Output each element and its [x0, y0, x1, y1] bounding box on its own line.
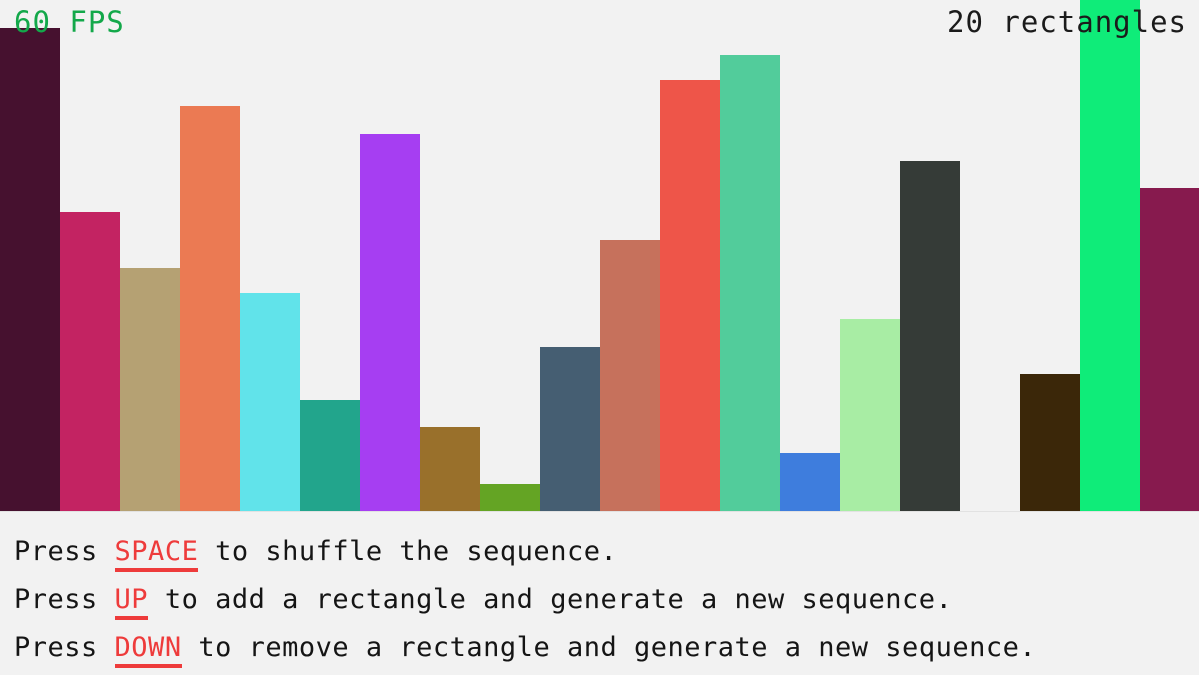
bar-7 — [360, 134, 420, 511]
instruction-suffix: to remove a rectangle and generate a new… — [182, 632, 1037, 663]
bar-1 — [0, 28, 60, 511]
bar-9 — [480, 484, 540, 511]
instruction-line-shuffle: Press SPACE to shuffle the sequence. — [14, 528, 1199, 576]
chart-area[interactable] — [0, 0, 1199, 511]
instruction-line-add: Press UP to add a rectangle and generate… — [14, 576, 1199, 624]
bar-8 — [420, 427, 480, 511]
bar-chart — [0, 0, 1199, 511]
bar-13 — [720, 55, 780, 511]
bar-14 — [780, 453, 840, 511]
bar-12 — [660, 80, 720, 511]
app-root: 60 FPS 20 rectangles Press SPACE to shuf… — [0, 0, 1199, 675]
instruction-suffix: to add a rectangle and generate a new se… — [148, 584, 952, 615]
bar-20 — [1140, 188, 1199, 511]
instruction-suffix: to shuffle the sequence. — [198, 536, 617, 567]
bar-3 — [120, 268, 180, 511]
instruction-prefix: Press — [14, 584, 115, 615]
key-down[interactable]: DOWN — [115, 632, 182, 668]
bar-18 — [1020, 374, 1080, 511]
instruction-prefix: Press — [14, 536, 115, 567]
bar-5 — [240, 293, 300, 511]
rectangle-count-label: 20 rectangles — [947, 8, 1187, 37]
instruction-line-remove: Press DOWN to remove a rectangle and gen… — [14, 624, 1199, 672]
bar-16 — [900, 161, 960, 511]
bar-19 — [1080, 0, 1140, 511]
key-space[interactable]: SPACE — [115, 536, 199, 572]
key-up[interactable]: UP — [115, 584, 149, 620]
bar-2 — [60, 212, 120, 511]
bar-10 — [540, 347, 600, 511]
bar-4 — [180, 106, 240, 511]
instructions-panel: Press SPACE to shuffle the sequence. Pre… — [0, 511, 1199, 675]
instruction-prefix: Press — [14, 632, 115, 663]
bar-11 — [600, 240, 660, 511]
bar-6 — [300, 400, 360, 511]
bar-15 — [840, 319, 900, 511]
fps-counter: 60 FPS — [14, 8, 125, 37]
